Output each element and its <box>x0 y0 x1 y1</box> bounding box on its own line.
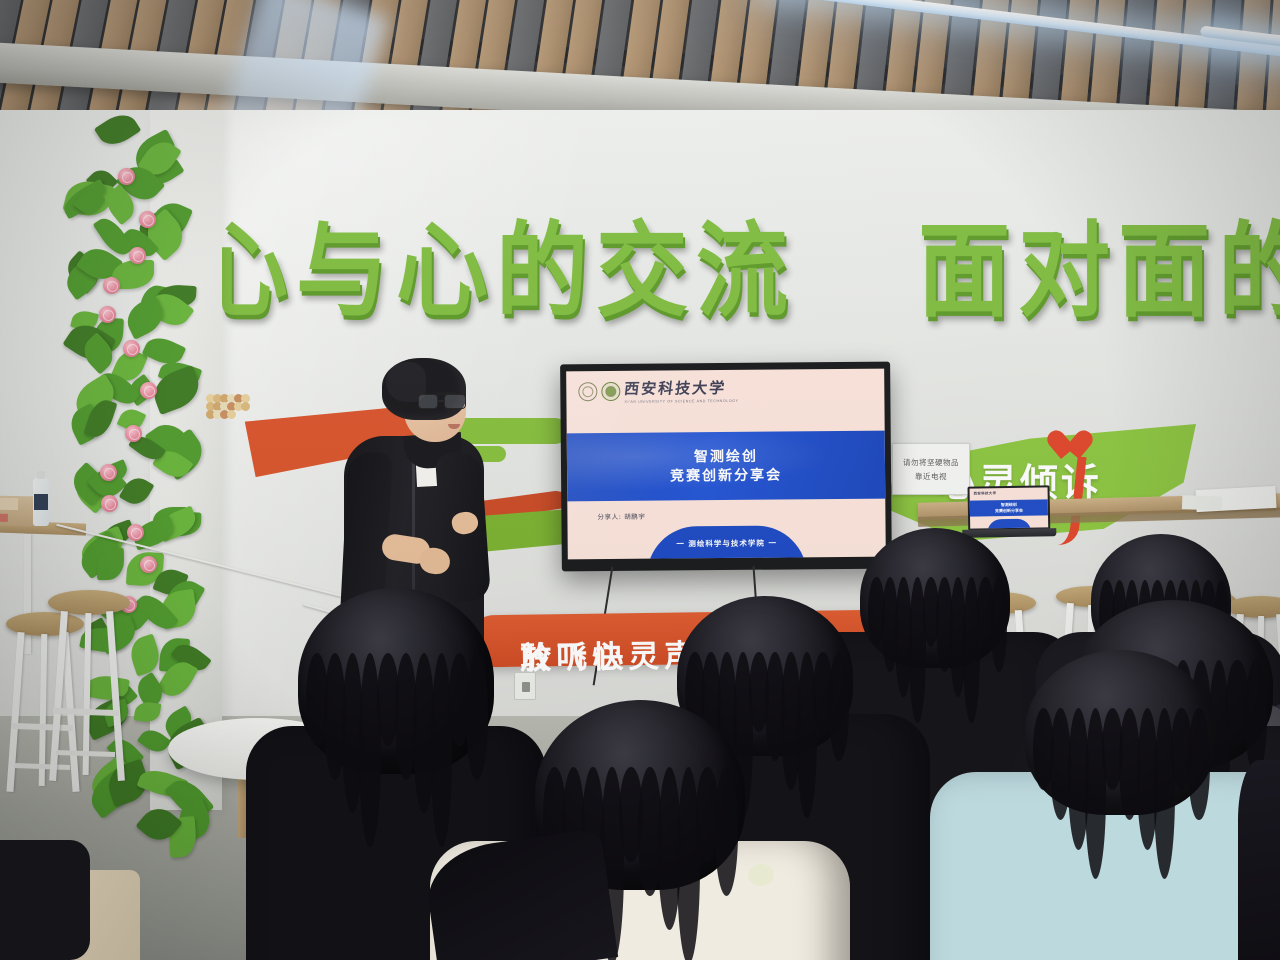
tv-screen: 西安科技大学 XI'AN UNIVERSITY OF SCIENCE AND T… <box>566 369 886 560</box>
photo-scene: 心与心的交流 面对面的关怀 心灵倾诉 请勿将坚硬物品 靠近电视 西安科技大学 X… <box>0 0 1280 960</box>
slide-title-band: 智测绘创 竞赛创新分享会 <box>567 431 886 502</box>
rose-flower <box>118 168 135 185</box>
notice-sign: 请勿将坚硬物品 靠近电视 <box>892 443 970 495</box>
slide-footer-text: 一 测绘科学与技术学院 一 <box>647 537 807 549</box>
notice-line-1: 请勿将坚硬物品 <box>903 457 959 468</box>
slide-title: 智测绘创 竞赛创新分享会 <box>567 447 885 488</box>
logo-seal-icon <box>578 382 597 401</box>
notice-line-2: 靠近电视 <box>915 471 947 482</box>
headline-part-1: 心与心的交流 <box>196 212 796 332</box>
hair-strand <box>829 652 849 761</box>
wall-headline-text: 心与心的交流 面对面的关怀 <box>196 188 1280 337</box>
stool-rung <box>53 707 119 715</box>
hair-tie <box>748 864 774 886</box>
laptop-slide-header: 西安科技大学 <box>974 490 997 495</box>
slide-university-name-en: XI'AN UNIVERSITY OF SCIENCE AND TECHNOLO… <box>624 399 738 404</box>
laptop[interactable]: 西安科技大学 智测绘创 竞赛创新分享会 <box>962 485 1057 545</box>
stool-seat <box>1226 596 1280 618</box>
hair-strand <box>1245 660 1267 776</box>
dried-bloom <box>227 410 236 419</box>
rose-flower <box>140 556 157 573</box>
hair-strand <box>466 653 488 779</box>
slide-university-name-cn: 西安科技大学 <box>623 377 740 399</box>
slide-logo-row: 西安科技大学 XI'AN UNIVERSITY OF SCIENCE AND T… <box>578 377 738 404</box>
stool <box>48 590 130 785</box>
laptop-title-line-2: 竞赛创新分享会 <box>995 507 1023 512</box>
slide-footer-arc: 一 测绘科学与技术学院 一 <box>647 525 807 559</box>
television-display[interactable]: 西安科技大学 XI'AN UNIVERSITY OF SCIENCE AND T… <box>560 362 892 572</box>
audience-body <box>0 840 90 960</box>
laptop-title-line-1: 智测绘创 <box>1001 502 1017 507</box>
slide-title-line-2: 竞赛创新分享会 <box>567 466 885 488</box>
hair-strand <box>715 767 738 896</box>
rose-flower <box>103 277 120 294</box>
rose-flower <box>127 524 144 541</box>
university-emblem-icon <box>601 381 620 400</box>
rose-flower <box>123 340 140 357</box>
ceiling-slats <box>0 0 1280 128</box>
flower-arrangement <box>204 392 248 426</box>
stool-leg <box>49 611 68 781</box>
long-hair-strands-right <box>1238 760 1280 960</box>
banner-part-2: 放飞快 <box>520 631 629 678</box>
dried-bloom <box>241 402 250 411</box>
headline-part-2: 面对面的关怀 <box>918 212 1280 332</box>
hair-strand <box>1188 708 1209 820</box>
slide-speaker-line: 分享人: 胡鹏宇 <box>597 511 645 521</box>
glasses-icon <box>418 394 470 410</box>
rose-flower <box>139 211 156 228</box>
rose-flower <box>100 464 117 481</box>
stool-rung <box>56 750 115 757</box>
wall-outlet <box>514 672 536 700</box>
rose-flower <box>140 382 157 399</box>
papers-on-counter <box>1195 486 1276 512</box>
rose-flower <box>99 306 116 323</box>
laptop-slide-title: 智测绘创 竞赛创新分享会 <box>970 501 1048 514</box>
cardboard-box <box>0 496 36 527</box>
laptop-base <box>962 528 1056 538</box>
laptop-lid: 西安科技大学 智测绘创 竞赛创新分享会 <box>968 485 1051 530</box>
laptop-slide-footer <box>987 519 1031 529</box>
laptop-screen: 西安科技大学 智测绘创 竞赛创新分享会 <box>970 487 1049 528</box>
water-bottle <box>33 478 49 526</box>
